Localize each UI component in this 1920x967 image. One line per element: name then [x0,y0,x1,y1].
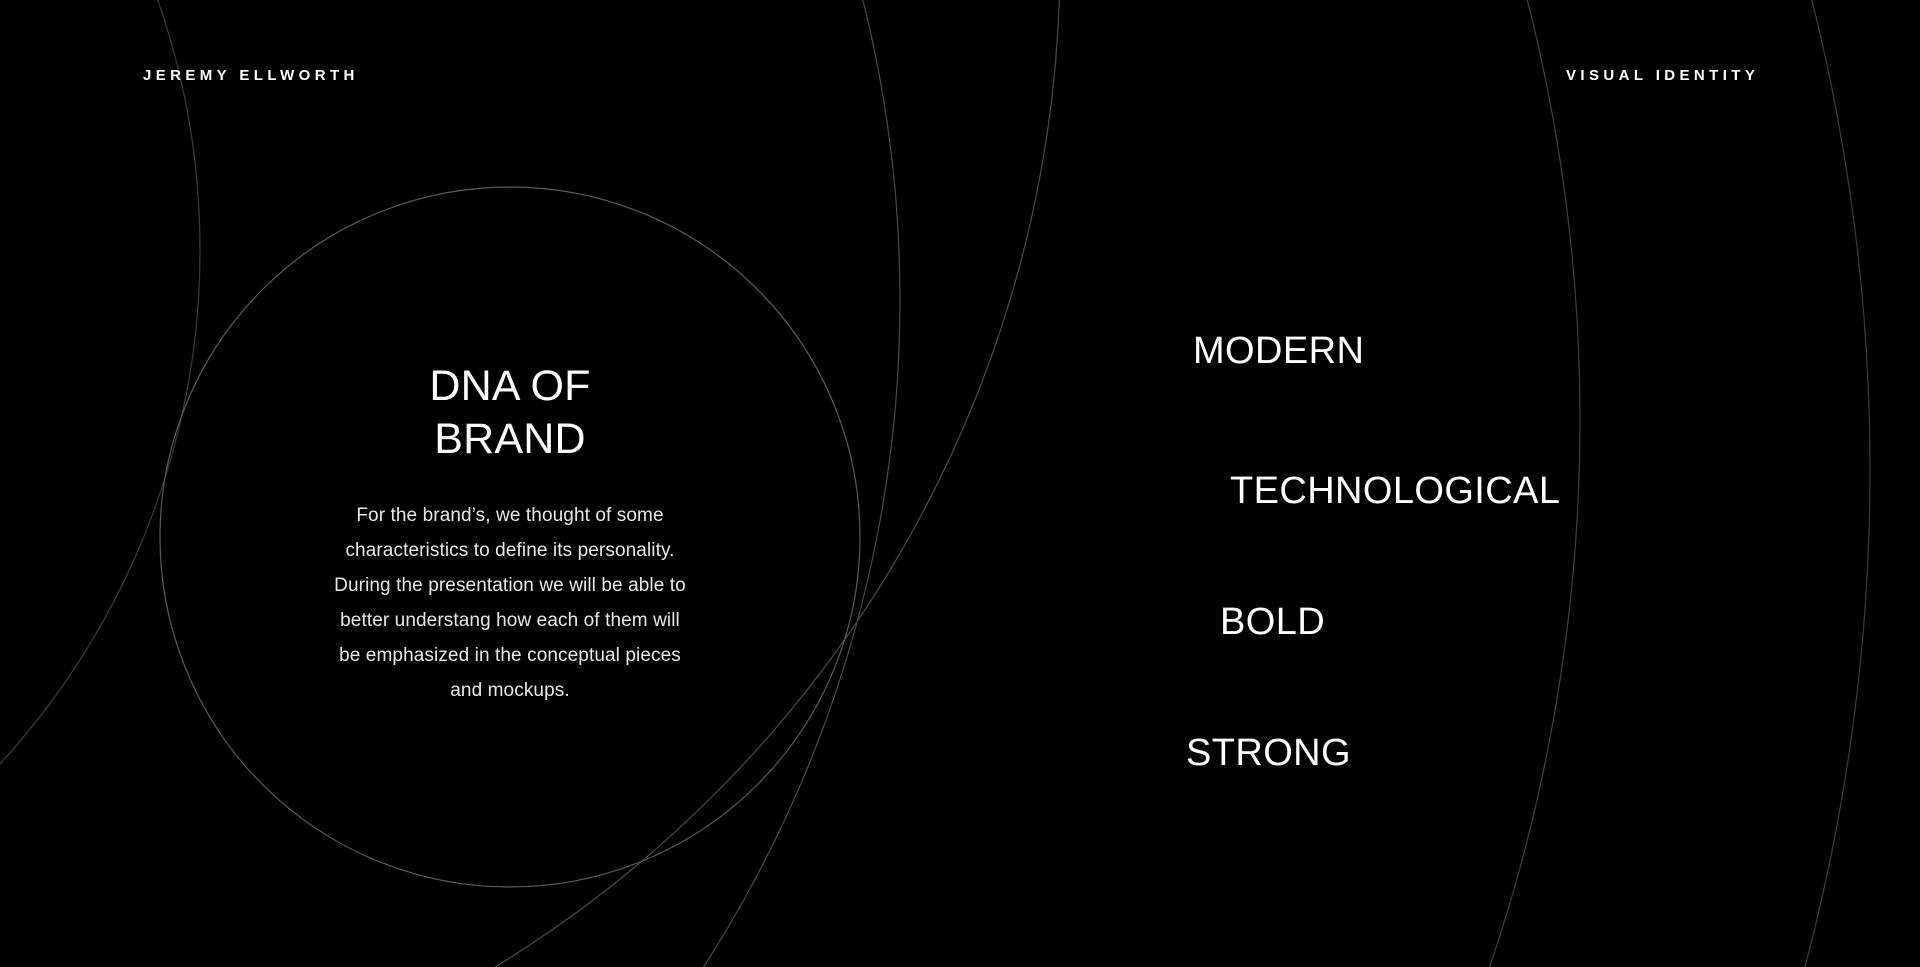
header-author-label: JEREMY ELLWORTH [143,68,359,83]
dna-description-paragraph: For the brand’s, we thought of some char… [300,498,720,708]
page-title: DNA OF BRAND [210,360,810,466]
keyword-strong: STRONG [1186,734,1351,772]
dna-content-block: DNA OF BRAND For the brand’s, we thought… [210,360,810,708]
keyword-bold: BOLD [1220,603,1325,641]
header-section-label: VISUAL IDENTITY [1566,68,1759,83]
keyword-technological: TECHNOLOGICAL [1230,472,1560,510]
arc-lower-left [0,0,200,967]
keyword-modern: MODERN [1193,332,1364,370]
